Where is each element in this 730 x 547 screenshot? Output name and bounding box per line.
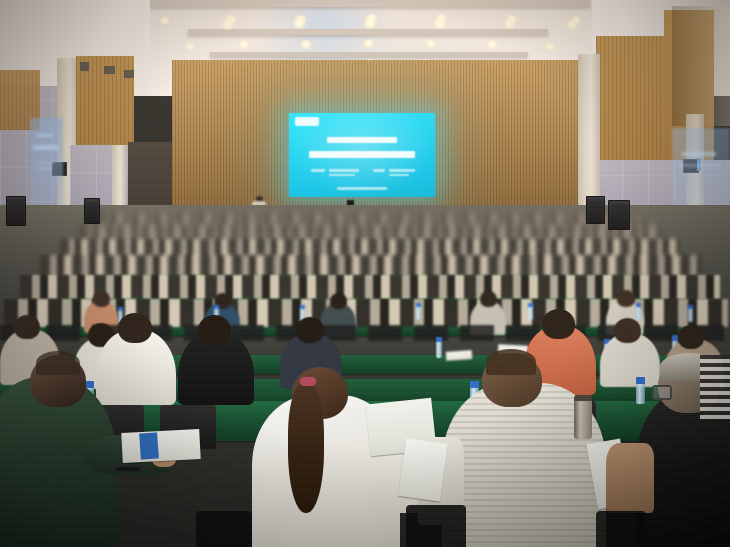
speaker-left-small (84, 198, 100, 224)
crowd-row-mid (20, 275, 720, 299)
wall-vent (124, 70, 134, 78)
document-page (446, 350, 473, 361)
audience-head (118, 313, 152, 343)
main-projection-screen[interactable] (289, 113, 435, 197)
arm (606, 443, 654, 513)
downlight (300, 40, 312, 49)
pen (116, 467, 140, 471)
audience-area (0, 205, 730, 547)
downlight (433, 18, 447, 29)
speaker-right-a (586, 196, 605, 224)
hair (36, 351, 80, 375)
downlight (185, 43, 195, 50)
document-page (121, 429, 200, 463)
ceiling-beam-1 (150, 0, 590, 7)
downlight (363, 39, 375, 48)
audience-head (198, 315, 231, 345)
downlight (545, 43, 555, 50)
speaker-left (6, 196, 26, 226)
glasses-icon (652, 385, 672, 400)
screen-line-title (309, 151, 415, 158)
screen-line-detail (329, 174, 355, 176)
audience-head (480, 291, 497, 307)
downlight (486, 40, 498, 49)
ponytail (288, 383, 324, 513)
audience-head (617, 290, 635, 307)
screen-line-banner (327, 137, 397, 143)
conference-hall-photo (0, 0, 730, 547)
screen-line-detail (389, 169, 415, 172)
water-bottle (436, 337, 442, 358)
water-bottle (636, 303, 641, 320)
crowd-row-far (40, 255, 700, 277)
downlight (566, 20, 578, 30)
document-page (398, 438, 448, 501)
downlight (503, 19, 516, 29)
audience-person-striped (700, 355, 730, 419)
chair (406, 505, 466, 547)
side-projection-line (38, 168, 52, 170)
downlight (238, 40, 250, 49)
right-upper-wood (596, 36, 674, 166)
screen-line-detail (329, 169, 359, 172)
downlight (363, 18, 377, 29)
audience-head (93, 291, 110, 307)
hair-tie (300, 377, 316, 386)
downlight (425, 39, 437, 48)
hair (486, 349, 536, 375)
speaker-right-b (608, 200, 630, 230)
ceiling-beam-3 (210, 52, 528, 57)
side-projection-line (38, 162, 54, 164)
wall-vent (104, 66, 115, 74)
ceiling-beam-2 (188, 29, 548, 35)
screen-line-detail (311, 169, 325, 172)
downlight (221, 19, 235, 30)
chair (196, 511, 252, 547)
side-projection-line (678, 164, 722, 167)
screen-line-detail (373, 169, 385, 172)
wall-vent (80, 62, 89, 71)
water-bottle (636, 377, 645, 404)
side-projection-line (37, 134, 53, 137)
audience-head (542, 309, 575, 339)
water-bottle (528, 303, 533, 320)
screen-line-detail (389, 174, 409, 176)
water-bottle (416, 303, 421, 320)
water-bottle (688, 305, 693, 322)
audience-head (330, 293, 347, 309)
audience-head (614, 318, 641, 343)
screen-line-date (337, 187, 387, 190)
downlight (292, 18, 306, 29)
downlight (160, 17, 170, 24)
audience-head (678, 325, 704, 349)
thermos-lid (574, 395, 592, 401)
chair (596, 511, 646, 547)
blue-folder (139, 432, 159, 459)
audience-head (14, 315, 40, 339)
side-projection-line (33, 145, 58, 150)
company-logo-icon (295, 117, 319, 126)
audience-head (296, 317, 324, 343)
thermos-cup (574, 397, 592, 439)
side-projection-line (682, 152, 716, 156)
right-wall-highlight (672, 6, 730, 126)
